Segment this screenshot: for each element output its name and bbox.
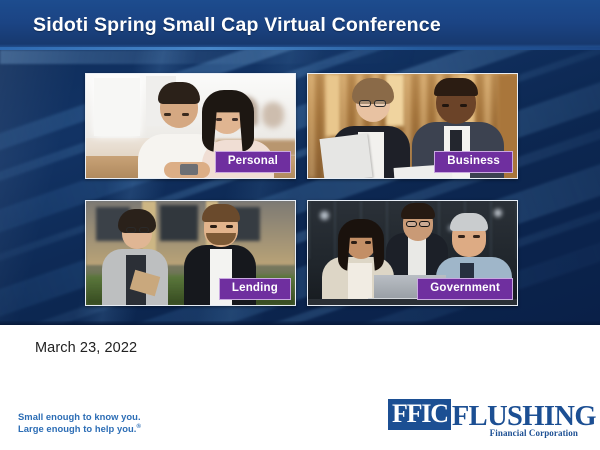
tile-lending[interactable]: Lending — [85, 200, 296, 306]
logo-subtitle: Financial Corporation — [490, 428, 578, 438]
photo-grid: Personal — [85, 73, 519, 306]
tagline: Small enough to know you. Large enough t… — [18, 411, 141, 436]
registered-mark: ® — [136, 424, 140, 430]
tagline-line-2: Large enough to help you.® — [18, 423, 141, 435]
header-sheen — [0, 50, 600, 64]
presentation-date: March 23, 2022 — [35, 340, 137, 356]
badge-lending[interactable]: Lending — [219, 278, 291, 300]
band-bottom-edge — [0, 321, 600, 325]
logo-wordmark-row: FFIC FLUSHING — [388, 399, 596, 430]
badge-personal[interactable]: Personal — [215, 151, 291, 173]
badge-business[interactable]: Business — [434, 151, 513, 173]
badge-government[interactable]: Government — [417, 278, 513, 300]
title-bar: Sidoti Spring Small Cap Virtual Conferen… — [0, 0, 600, 50]
flushing-wordmark: FLUSHING — [452, 403, 596, 432]
tile-personal[interactable]: Personal — [85, 73, 296, 179]
slide: Sidoti Spring Small Cap Virtual Conferen… — [0, 0, 600, 450]
page-title: Sidoti Spring Small Cap Virtual Conferen… — [33, 14, 441, 37]
tile-government[interactable]: Government — [307, 200, 518, 306]
tagline-line-2-text: Large enough to help you. — [18, 423, 136, 434]
company-logo: FFIC FLUSHING Financial Corporation — [388, 399, 580, 441]
ffic-ticker-mark: FFIC — [388, 399, 451, 430]
tile-business[interactable]: Business — [307, 73, 518, 179]
tagline-line-1: Small enough to know you. — [18, 411, 141, 423]
